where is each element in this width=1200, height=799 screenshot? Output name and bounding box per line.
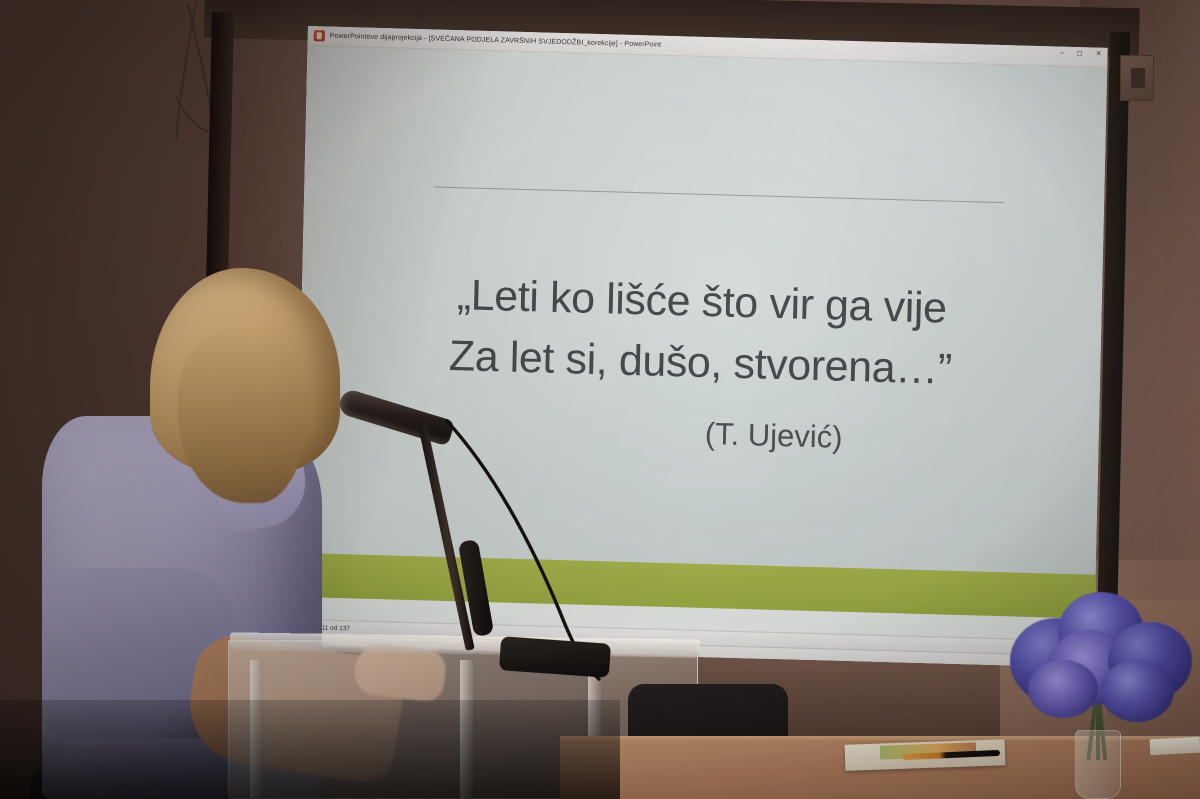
presenter-hair-strands [178,328,308,503]
slide-canvas: „Leti ko lišće što vir ga vije Za let si… [294,46,1107,641]
window-title: PowerPointove dijaprojekcija - [SVEČANA … [330,33,662,49]
presentation-room-scene: PowerPointove dijaprojekcija - [SVEČANA … [0,0,1200,799]
powerpoint-icon [314,30,325,41]
loose-papers [1150,737,1200,756]
slide-divider-line [434,187,1004,204]
window-controls: – ◻ ✕ [1058,49,1104,59]
hydrangea-bloom [1100,660,1174,722]
minimize-button[interactable]: – [1058,49,1066,58]
hydrangea-bloom [1028,660,1098,718]
close-button[interactable]: ✕ [1094,50,1104,59]
projector-screen-wall-bracket [1120,55,1154,101]
maximize-button[interactable]: ◻ [1075,49,1085,58]
glass-vase [1075,730,1121,799]
lectern-post-mid [460,660,473,799]
projected-powerpoint-window: PowerPointove dijaprojekcija - [SVEČANA … [294,26,1108,668]
quote-attribution: (T. Ujević) [488,410,1059,462]
lectern-post-left [250,660,263,799]
